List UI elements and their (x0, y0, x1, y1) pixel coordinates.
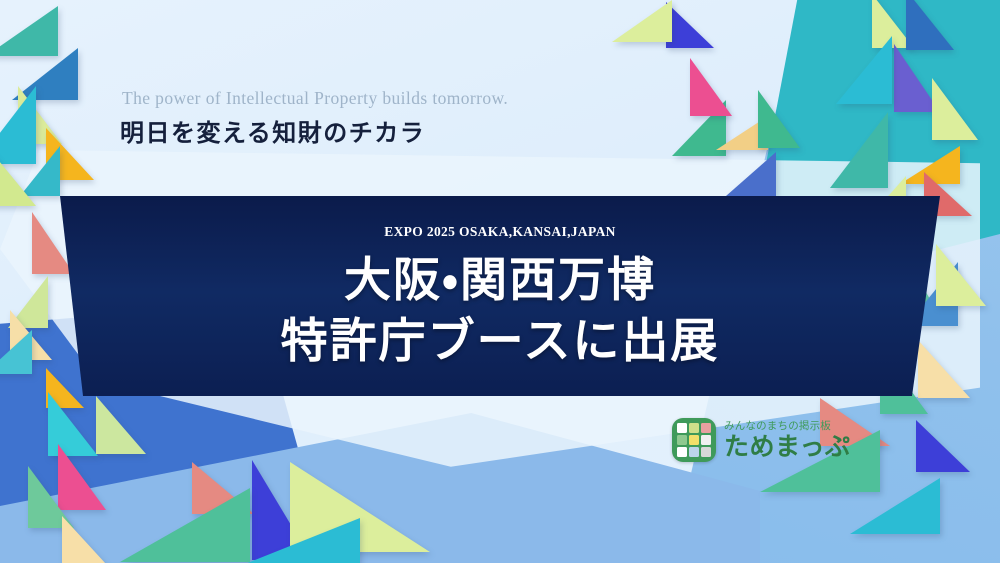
logo-tile-7 (677, 447, 687, 457)
logo-tile-8 (689, 447, 699, 457)
expo-eyebrow: EXPO 2025 OSAKA,KANSAI,JAPAN (384, 224, 616, 240)
tri-royal-topc (666, 2, 714, 48)
tagline-japanese: 明日を変える知財のチカラ (120, 113, 508, 148)
tri-cyan-topr (836, 36, 892, 104)
logo-tagline: みんなのまちの掲示板 (724, 421, 851, 432)
tri-lime-left2 (0, 150, 36, 206)
tri-blue-topc (726, 152, 776, 196)
logo-brand-name: ためまっぷ (724, 434, 851, 459)
tri-blue-topr (906, 0, 954, 50)
logo-tile-5 (689, 435, 699, 445)
tri-lime-topc (612, 0, 672, 42)
logo-tile-6 (701, 435, 711, 445)
tri-pink-topc (690, 58, 732, 116)
logo-text-block: みんなのまちの掲示板 ためまっぷ (724, 421, 851, 460)
ribbon-content: EXPO 2025 OSAKA,KANSAI,JAPAN 大阪・関西万博 特許庁… (0, 196, 1000, 396)
bulletin-board-icon (672, 418, 716, 462)
headline-line-1: 大阪・関西万博 (281, 250, 720, 311)
tri-sand-bl (62, 516, 106, 563)
headline-line-2: 特許庁ブースに出展 (281, 311, 720, 372)
logo-tile-9 (701, 447, 711, 457)
logo-tile-4 (677, 435, 687, 445)
tri-cyan-bc (240, 518, 360, 563)
tri-green-bc (120, 488, 250, 562)
tamemap-logo[interactable]: みんなのまちの掲示板 ためまっぷ (672, 418, 851, 462)
tri-lime-topr2 (932, 78, 978, 140)
navy-ribbon: EXPO 2025 OSAKA,KANSAI,JAPAN 大阪・関西万博 特許庁… (0, 196, 1000, 396)
tri-green-topc2 (758, 90, 800, 148)
logo-tile-3 (701, 423, 711, 433)
tri-royal-r (916, 420, 970, 472)
tri-cyan-r (850, 478, 940, 534)
tagline-block: The power of Intellectual Property build… (120, 88, 508, 148)
tri-cyan-left3 (0, 330, 32, 374)
poster-canvas: The power of Intellectual Property build… (0, 0, 1000, 563)
logo-tile-1 (677, 423, 687, 433)
tagline-english: The power of Intellectual Property build… (122, 88, 508, 109)
logo-tile-2 (689, 423, 699, 433)
tri-lime-midr2 (936, 244, 986, 306)
headline: 大阪・関西万博 特許庁ブースに出展 (281, 250, 720, 372)
tri-lime-bc (96, 396, 146, 454)
